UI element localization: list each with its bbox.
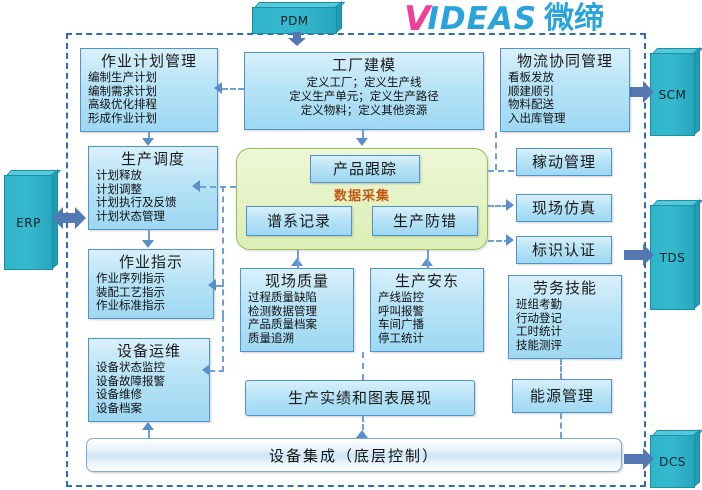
- brand-name-cn: 微缔: [544, 2, 604, 36]
- connector-energy-to-footer: [560, 413, 562, 438]
- external-system-dcs[interactable]: DCS: [650, 430, 700, 488]
- module-item: 工时统计: [516, 325, 621, 339]
- module-factory-modeling[interactable]: 工厂建模 定义工厂；定义生产线 定义生产单元；定义生产路径 定义物料；定义其他资…: [244, 52, 484, 130]
- external-system-erp[interactable]: ERP: [4, 170, 58, 270]
- module-item: 质量追溯: [248, 332, 353, 346]
- diagram-canvas: V IDEAS 微缔 PDM ERP SCM TDS DCS: [0, 0, 702, 490]
- connector-core-to-plan: [222, 88, 244, 90]
- module-title: 设备集成（底层控制）: [269, 445, 439, 466]
- connector-logistics-bus: [495, 132, 497, 170]
- connector-core-right-tap: [488, 170, 514, 172]
- arrow-head-right: [506, 234, 514, 246]
- module-item: 设备状态监控: [96, 361, 209, 375]
- module-equipment-integration[interactable]: 设备集成（底层控制）: [86, 438, 622, 472]
- connector-core-right-tap2: [488, 205, 508, 207]
- module-title: 设备运维: [89, 339, 209, 361]
- module-error-proofing[interactable]: 生产防错: [372, 206, 478, 236]
- module-item: 过程质量缺陷: [248, 291, 353, 305]
- module-item: 技能测评: [516, 339, 621, 353]
- module-production-andon[interactable]: 生产安东 产线监控 呼叫报警 车间广播 停工统计: [370, 268, 484, 352]
- module-title: 作业指示: [89, 250, 213, 272]
- arrow-head-down: [142, 240, 154, 248]
- module-operation-plan[interactable]: 作业计划管理 编制生产计划 编制需求计划 高级优化排程 形成作业计划: [80, 48, 218, 132]
- arrow-head-left: [202, 364, 210, 376]
- module-item: 设备故障报警: [96, 375, 209, 389]
- module-item-list: 过程质量缺陷 检测数据管理 产品质量档案 质量追溯: [241, 291, 353, 345]
- module-genealogy-record[interactable]: 谱系记录: [246, 206, 352, 236]
- module-title: 现场仿真: [532, 199, 596, 218]
- external-system-label: SCM: [650, 53, 695, 136]
- arrow-shaft: [624, 250, 643, 260]
- module-item: 班组考勤: [516, 298, 621, 312]
- arrow-head-right: [643, 81, 654, 103]
- module-labor-skills[interactable]: 劳务技能 班组考勤 行动登记 工时统计 技能测评: [508, 275, 622, 359]
- external-system-label: DCS: [650, 435, 695, 488]
- module-title: 标识认证: [532, 241, 596, 260]
- module-item-list: 作业序列指示 装配工艺指示 作业标准指示: [89, 272, 213, 313]
- module-item: 检测数据管理: [248, 305, 353, 319]
- connector-arrow-pdm: [288, 32, 306, 46]
- module-field-quality[interactable]: 现场质量 过程质量缺陷 检测数据管理 产品质量档案 质量追溯: [240, 268, 354, 352]
- module-item: 作业标准指示: [96, 299, 213, 313]
- arrow-head-down: [142, 138, 154, 146]
- module-title: 现场质量: [241, 269, 353, 291]
- module-logistics-collaboration[interactable]: 物流协同管理 看板发放 顺建顺引 物料配送 入出库管理: [500, 48, 630, 132]
- module-work-instruction[interactable]: 作业指示 作业序列指示 装配工艺指示 作业标准指示: [88, 249, 214, 319]
- arrow-head-left: [208, 279, 216, 291]
- module-item: 车间广播: [378, 318, 483, 332]
- module-item-list: 计划释放 计划调整 计划执行及反馈 计划状态管理: [89, 169, 217, 223]
- arrow-head-left: [214, 82, 222, 94]
- arrow-shaft: [624, 454, 643, 464]
- arrow-head-right: [506, 199, 514, 211]
- connector-bus-down: [222, 316, 224, 372]
- connector-andon-to-core: [427, 250, 429, 268]
- module-item: 设备维修: [96, 388, 209, 402]
- arrow-head-left: [52, 207, 63, 229]
- arrow-head-up: [142, 422, 154, 430]
- module-item-list: 设备状态监控 设备故障报警 设备维修 设备档案: [89, 361, 209, 415]
- module-title: 劳务技能: [509, 276, 621, 298]
- arrow-head-right: [75, 207, 86, 229]
- arrow-head-down: [288, 38, 306, 46]
- module-title: 物流协同管理: [501, 49, 629, 71]
- connector-arrow-dcs: [624, 448, 654, 470]
- brand-mark-v: V: [404, 2, 429, 36]
- connector-bus-to-instruction: [216, 285, 224, 287]
- module-item-list: 班组考勤 行动登记 工时统计 技能测评: [509, 298, 621, 352]
- module-identification-certification[interactable]: 标识认证: [516, 236, 612, 264]
- arrow-head-right: [643, 244, 654, 266]
- module-item-list: 产线监控 呼叫报警 车间广播 停工统计: [371, 291, 483, 345]
- module-item: 产线监控: [378, 291, 483, 305]
- connector-quality-to-core: [297, 250, 299, 268]
- module-line: 定义生产单元；定义生产路径: [245, 89, 483, 103]
- arrow-head-left: [192, 180, 200, 192]
- module-title: 生产实绩和图表展现: [288, 389, 432, 408]
- module-item: 设备档案: [96, 402, 209, 416]
- external-system-pdm[interactable]: PDM: [252, 2, 342, 34]
- module-utilization-management[interactable]: 稼动管理: [516, 148, 612, 176]
- module-item-list: 编制生产计划 编制需求计划 高级优化排程 形成作业计划: [81, 71, 217, 125]
- module-item: 物料配送: [508, 98, 629, 112]
- core-group-label: 数据采集: [237, 185, 487, 204]
- connector-arrow-erp: [52, 207, 86, 229]
- external-system-label: PDM: [252, 7, 337, 34]
- module-item: 高级优化排程: [88, 98, 217, 112]
- arrow-head-up: [356, 430, 368, 438]
- connector-center-to-report: [362, 352, 364, 380]
- connector-instruction-bus-v: [222, 186, 224, 316]
- module-title: 生产调度: [89, 147, 217, 169]
- module-energy-management[interactable]: 能源管理: [512, 379, 612, 413]
- brand-logo: V IDEAS 微缔: [404, 2, 604, 36]
- brand-name: IDEAS: [427, 2, 537, 36]
- module-item: 看板发放: [508, 71, 629, 85]
- module-item: 入出库管理: [508, 112, 629, 126]
- module-item: 编制需求计划: [88, 85, 217, 99]
- module-item: 顺建顺引: [508, 85, 629, 99]
- module-production-report[interactable]: 生产实绩和图表展现: [245, 380, 475, 416]
- module-item: 形成作业计划: [88, 112, 217, 126]
- module-title: 工厂建模: [245, 53, 483, 75]
- external-system-scm[interactable]: SCM: [650, 48, 700, 136]
- module-equipment-maintenance[interactable]: 设备运维 设备状态监控 设备故障报警 设备维修 设备档案: [88, 338, 210, 422]
- connector-core-to-scheduling: [200, 186, 236, 188]
- module-item: 计划执行及反馈: [96, 196, 217, 210]
- module-product-tracking[interactable]: 产品跟踪: [310, 155, 420, 183]
- module-title: 稼动管理: [532, 153, 596, 172]
- module-item: 作业序列指示: [96, 272, 213, 286]
- module-title: 谱系记录: [267, 212, 331, 231]
- external-system-label: ERP: [4, 175, 53, 270]
- connector-labor-to-energy: [560, 359, 562, 379]
- module-item: 行动登记: [516, 312, 621, 326]
- module-field-simulation[interactable]: 现场仿真: [516, 194, 612, 222]
- arrow-head-right: [643, 448, 654, 470]
- external-system-label: TDS: [650, 205, 695, 310]
- module-title: 能源管理: [530, 387, 594, 406]
- module-item: 计划状态管理: [96, 210, 217, 224]
- module-line: 定义工厂；定义生产线: [245, 75, 483, 89]
- arrow-head-down: [356, 138, 368, 146]
- module-item: 编制生产计划: [88, 71, 217, 85]
- external-system-tds[interactable]: TDS: [650, 200, 700, 310]
- module-item: 装配工艺指示: [96, 286, 213, 300]
- module-line: 定义物料；定义其他资源: [245, 103, 483, 117]
- module-item: 产品质量档案: [248, 318, 353, 332]
- module-title: 生产防错: [393, 212, 457, 231]
- module-title: 生产安东: [371, 269, 483, 291]
- module-item: 呼叫报警: [378, 305, 483, 319]
- module-title: 作业计划管理: [81, 49, 217, 71]
- module-item-list: 看板发放 顺建顺引 物料配送 入出库管理: [501, 71, 629, 125]
- module-title: 产品跟踪: [333, 160, 397, 179]
- module-item: 停工统计: [378, 332, 483, 346]
- connector-arrow-tds: [624, 244, 654, 266]
